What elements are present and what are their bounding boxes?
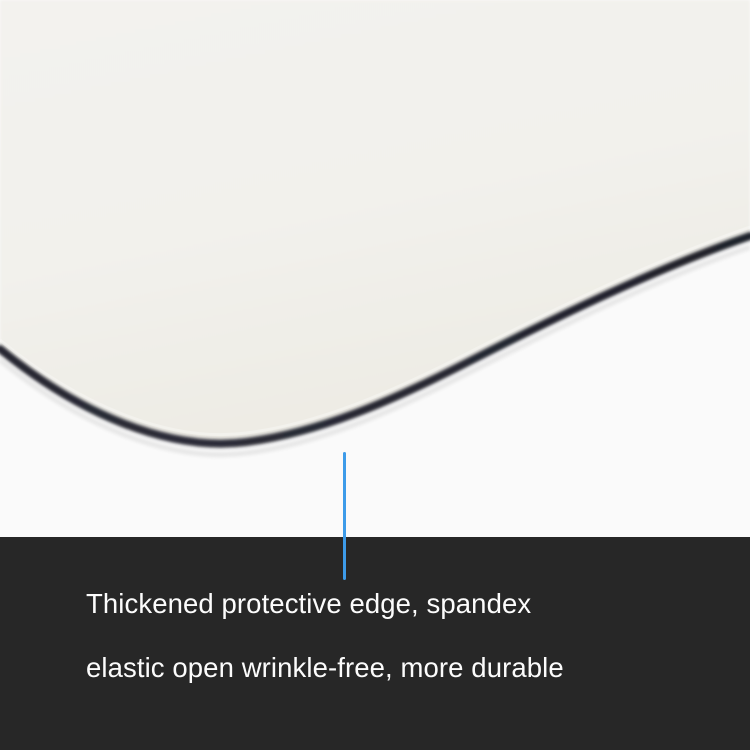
caption-panel: Thickened protective edge, spandex elast… [0, 537, 750, 750]
caption-line-1: Thickened protective edge, spandex [86, 590, 706, 618]
callout-leader-line [343, 452, 346, 580]
product-photo [0, 0, 750, 537]
caption-line-2: elastic open wrinkle-free, more durable [86, 654, 706, 682]
product-feature-slide: Thickened protective edge, spandex elast… [0, 0, 750, 750]
product-corner-illustration [0, 0, 750, 537]
caption-text-block: Thickened protective edge, spandex elast… [86, 590, 706, 681]
